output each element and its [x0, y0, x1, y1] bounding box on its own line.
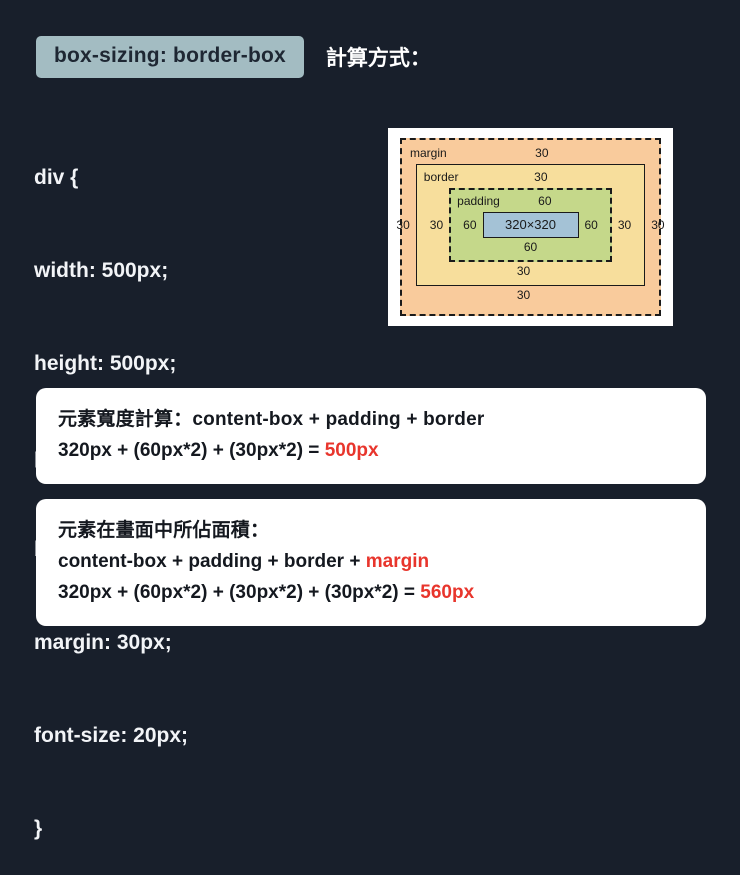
margin-middle-row: 30 border 30 30 padding 60 60 — [410, 164, 651, 286]
box-model-border-area: border 30 30 padding 60 60 320×320 60 — [416, 164, 645, 286]
code-line-5: margin: 30px; — [34, 627, 322, 658]
padding-top-row: padding 60 — [457, 194, 604, 212]
margin-bottom-value: 30 — [410, 286, 651, 304]
width-calc-formula: 320px + (60px*2) + (30px*2) = 500px — [58, 435, 684, 466]
area-calc-formula-prefix: 320px + (60px*2) + (30px*2) + (30px*2) = — [58, 582, 420, 603]
border-right-value: 30 — [612, 218, 637, 232]
padding-top-value: 60 — [500, 194, 604, 208]
area-calc-title: 元素在畫面中所佔面積： — [58, 515, 684, 546]
padding-right-value: 60 — [579, 218, 604, 232]
padding-middle-row: 60 320×320 60 — [457, 212, 604, 238]
area-calc-parts: content-box + padding + border + margin — [58, 546, 684, 577]
padding-label: padding — [457, 194, 500, 208]
width-calc-formula-prefix: 320px + (60px*2) + (30px*2) = — [58, 440, 325, 461]
padding-left-value: 60 — [457, 218, 482, 232]
margin-top-row: margin 30 — [410, 146, 651, 164]
box-model-margin-area: margin 30 30 border 30 30 padding 60 — [400, 138, 661, 316]
width-calculation-card: 元素寬度計算：content-box + padding + border 32… — [36, 388, 706, 484]
padding-bottom-value: 60 — [457, 238, 604, 256]
width-calc-title: 元素寬度計算：content-box + padding + border — [58, 404, 684, 435]
box-model-padding-area: padding 60 60 320×320 60 60 — [449, 188, 612, 262]
area-calculation-card: 元素在畫面中所佔面積： content-box + padding + bord… — [36, 499, 706, 626]
box-model-content-area: 320×320 — [483, 212, 579, 238]
code-line-0: div { — [34, 162, 322, 193]
code-line-1: width: 500px; — [34, 255, 322, 286]
border-middle-row: 30 padding 60 60 320×320 60 60 — [424, 188, 637, 262]
code-line-6: font-size: 20px; — [34, 720, 322, 751]
border-label: border — [424, 170, 459, 184]
margin-left-value: 30 — [390, 218, 415, 232]
header-note: 計算方式： — [326, 42, 431, 72]
margin-label: margin — [410, 146, 447, 160]
box-sizing-badge: box-sizing: border-box — [36, 36, 304, 78]
header-row: box-sizing: border-box 計算方式： — [36, 36, 431, 78]
css-code-block: div { width: 500px; height: 500px; paddi… — [34, 100, 322, 875]
border-top-value: 30 — [458, 170, 637, 184]
box-model-diagram: margin 30 30 border 30 30 padding 60 — [388, 128, 673, 326]
area-calc-parts-prefix: content-box + padding + border + — [58, 551, 366, 572]
margin-top-value: 30 — [447, 146, 651, 160]
border-left-value: 30 — [424, 218, 449, 232]
code-line-2: height: 500px; — [34, 348, 322, 379]
border-top-row: border 30 — [424, 170, 637, 188]
margin-right-value: 30 — [645, 218, 670, 232]
code-line-7: } — [34, 813, 322, 844]
area-calc-formula: 320px + (60px*2) + (30px*2) + (30px*2) =… — [58, 577, 684, 608]
area-calc-parts-accent: margin — [366, 551, 429, 572]
width-calc-result: 500px — [325, 440, 379, 461]
area-calc-result: 560px — [420, 582, 474, 603]
border-bottom-value: 30 — [424, 262, 637, 280]
